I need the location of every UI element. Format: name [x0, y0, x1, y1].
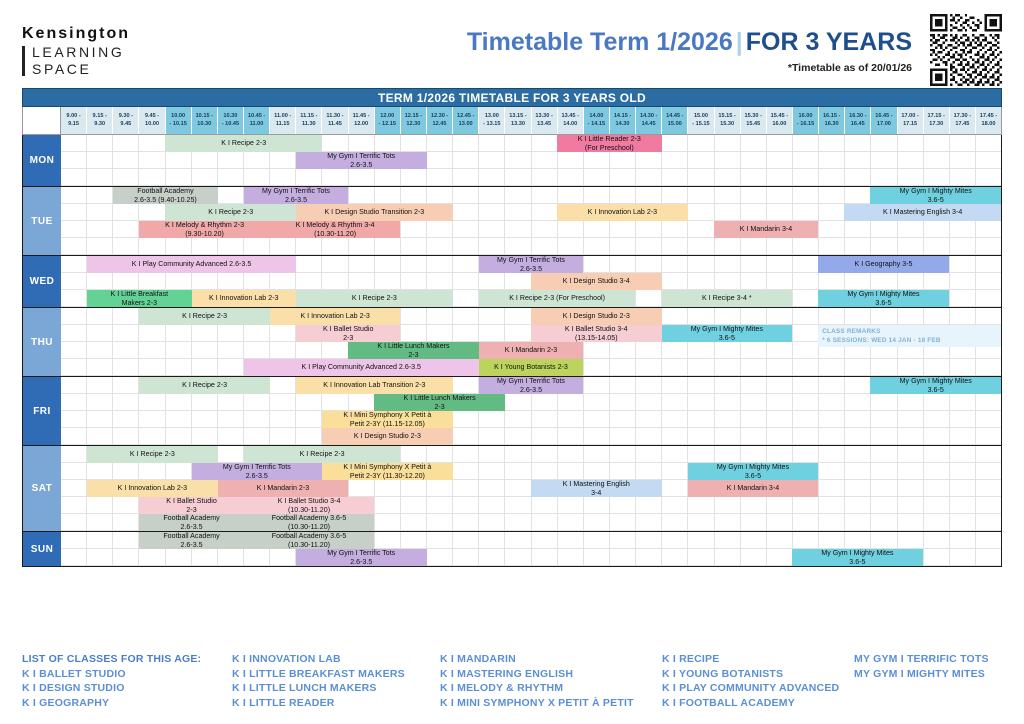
legend-column-2: K I INNOVATION LAB K I LITTLE BREAKFAST … [232, 652, 440, 710]
time-slot-end: 15.30 [720, 121, 734, 129]
time-slot-header: 16.00- 16.15 [793, 107, 819, 134]
class-block[interactable]: My Gym I Terrific Tots 2.6-3.5 [296, 152, 427, 169]
class-block[interactable]: K I Design Studio 2-3 [322, 428, 453, 445]
legend-column-1: LIST OF CLASSES FOR THIS AGE: K I BALLET… [22, 652, 232, 710]
timetable-row-thu: THUK I Recipe 2-3K I Innovation Lab 2-3K… [23, 307, 1001, 376]
time-slot-start: 13.45 - [562, 113, 579, 121]
lane [61, 152, 1001, 169]
class-block[interactable]: K I Ballet Studio 2-3 [139, 497, 243, 514]
class-block[interactable]: My Gym I Terrific Tots 2.6-3.5 [244, 187, 348, 204]
class-block[interactable]: K I Little Lunch Makers 2-3 [374, 394, 505, 411]
class-block[interactable]: Football Academy 3.6-5 (10.30-11.20) [244, 532, 375, 549]
time-slot-end: 16.00 [772, 121, 786, 129]
class-block[interactable]: K I Design Studio 3-4 [531, 273, 662, 290]
class-remarks: CLASS REMARKS * 6 SESSIONS: WED 14 JAN -… [818, 325, 1001, 347]
time-slot-start: 13.30 - [535, 113, 552, 121]
legend-item: K I DESIGN STUDIO [22, 681, 232, 696]
class-block[interactable]: K I Play Community Advanced 2.6-3.5 [87, 256, 296, 273]
time-slot-header: 9.00 -9.15 [61, 107, 87, 134]
time-slot-header: 15.45 -16.00 [767, 107, 793, 134]
time-slot-header: 12.45 -13.00 [453, 107, 479, 134]
time-slot-header: 14.45 -15.00 [662, 107, 688, 134]
time-slot-start: 12.45 - [457, 113, 474, 121]
time-slot-header: 10.45 -11.00 [244, 107, 270, 134]
class-block[interactable]: K I Mandarin 3-4 [714, 221, 818, 238]
title-term: Timetable Term 1/2026 [467, 28, 733, 56]
day-lanes: K I Recipe 2-3My Gym I Terrific Tots 2.6… [61, 135, 1001, 186]
class-block[interactable]: My Gym I Terrific Tots 2.6-3.5 [479, 256, 583, 273]
time-slot-header: 12.30 -12.45 [427, 107, 453, 134]
time-slot-start: 14.00 [589, 113, 603, 121]
brand-line-2: LEARNING [32, 44, 130, 61]
class-block[interactable]: K I Play Community Advanced 2.6-3.5 [244, 359, 479, 376]
time-slot-start: 16.15 - [823, 113, 840, 121]
time-slot-start: 11.45 - [353, 113, 370, 121]
time-slot-end: - 10.15 [169, 121, 186, 129]
legend-item: MY GYM I TERRIFIC TOTS [854, 652, 989, 667]
time-slot-end: 16.30 [825, 121, 839, 129]
legend-item: K I FOOTBALL ACADEMY [662, 696, 854, 711]
time-slot-start: 9.45 - [145, 113, 159, 121]
time-slot-end: 13.45 [537, 121, 551, 129]
legend-item: K I INNOVATION LAB [232, 652, 440, 667]
time-slot-header: 15.00- 15.15 [688, 107, 714, 134]
legend-column-3: K I MANDARIN K I MASTERING ENGLISH K I M… [440, 652, 662, 710]
time-slot-end: - 16.15 [797, 121, 814, 129]
class-block[interactable]: My Gym I Mighty Mites 3.6-5 [870, 187, 1001, 204]
brand-line-1: Kensington [22, 24, 130, 43]
time-slot-header: 11.45 -12.00 [349, 107, 375, 134]
class-block[interactable]: K I Little Reader 2-3 (For Preschool) [557, 135, 661, 152]
class-block[interactable]: K I Little Breakfast Makers 2-3 [87, 290, 191, 307]
legend-item: K I RECIPE [662, 652, 854, 667]
legend-column-4: K I RECIPE K I YOUNG BOTANISTS K I PLAY … [662, 652, 854, 710]
title-age-group: FOR 3 YEARS [746, 28, 912, 56]
time-slot-end: 17.45 [955, 121, 969, 129]
class-block[interactable]: K I Recipe 2-3 [165, 204, 296, 221]
time-slot-end: - 15.15 [692, 121, 709, 129]
day-label-sat: SAT [23, 446, 61, 531]
class-legend: LIST OF CLASSES FOR THIS AGE: K I BALLET… [22, 652, 1012, 710]
time-slot-end: 14.45 [642, 121, 656, 129]
brand-logo: Kensington LEARNING SPACE [22, 24, 130, 78]
legend-item: K I MASTERING ENGLISH [440, 667, 662, 682]
lane [61, 238, 1001, 255]
time-slot-header: 17.30 -17.45 [950, 107, 976, 134]
legend-item: K I LITTLE READER [232, 696, 440, 711]
time-slot-start: 10.45 - [248, 113, 265, 121]
time-slot-cells: 9.00 -9.159.15 -9.309.30 -9.459.45 -10.0… [61, 107, 1001, 134]
time-slot-header: 10.15 -10.30 [192, 107, 218, 134]
legend-column-5: MY GYM I TERRIFIC TOTS MY GYM I MIGHTY M… [854, 652, 989, 710]
class-block[interactable]: Football Academy 3.6-5 (10.30-11.20) [244, 514, 375, 531]
timetable-row-tue: TUEFootball Academy 2.6-3.5 (9.40-10.25)… [23, 186, 1001, 255]
timetable-row-mon: MONK I Recipe 2-3My Gym I Terrific Tots … [23, 135, 1001, 186]
class-block[interactable]: Football Academy 2.6-3.5 (9.40-10.25) [113, 187, 217, 204]
legend-item: K I MINI SYMPHONY X PETIT À PETIT [440, 696, 662, 711]
class-block[interactable]: K I Recipe 2-3 [244, 446, 401, 463]
class-block[interactable]: K I Innovation Lab 2-3 [192, 290, 296, 307]
time-slot-start: 12.15 - [405, 113, 422, 121]
time-slot-end: 11.30 [302, 121, 316, 129]
time-slot-start: 12.30 - [431, 113, 448, 121]
time-slot-end: 9.45 [120, 121, 131, 129]
time-slot-end: 11.15 [276, 121, 290, 129]
time-slot-header: 17.00 -17.15 [898, 107, 924, 134]
time-slot-end: 9.30 [94, 121, 105, 129]
qr-code-icon[interactable] [930, 14, 1002, 86]
time-slot-header: 11.30 -11.45 [322, 107, 348, 134]
time-slot-header: 11.15 -11.30 [296, 107, 322, 134]
day-lanes: Football Academy 2.6-3.5 (9.40-10.25)My … [61, 187, 1001, 255]
time-slot-header: 16.15 -16.30 [819, 107, 845, 134]
class-block[interactable]: K I Mandarin 2-3 [218, 480, 349, 497]
class-block[interactable]: K I Recipe 2-3 [139, 308, 270, 325]
time-slot-end: 12.00 [354, 121, 368, 129]
time-slot-start: 11.00 - [274, 113, 291, 121]
time-slot-start: 9.15 - [93, 113, 107, 121]
day-lanes: K I Recipe 2-3K I Innovation Lab Transit… [61, 377, 1001, 445]
class-block[interactable]: K I Little Lunch Makers 2-3 [348, 342, 479, 359]
class-block[interactable]: K I Design Studio 2-3 [531, 308, 662, 325]
lane [61, 169, 1001, 186]
title-separator: | [733, 28, 746, 56]
time-slot-end: - 10.45 [222, 121, 239, 129]
time-slot-header: 15.15 -15.30 [715, 107, 741, 134]
time-slot-end: - 13.15 [483, 121, 500, 129]
brand-lockup: LEARNING SPACE [22, 44, 130, 78]
time-slot-start: 16.00 [799, 113, 813, 121]
legend-item: MY GYM I MIGHTY MITES [854, 667, 989, 682]
time-slot-start: 10.00 [171, 113, 185, 121]
time-slot-end: 13.00 [459, 121, 473, 129]
class-block[interactable]: My Gym I Mighty Mites 3.6-5 [792, 549, 923, 566]
class-block[interactable]: Football Academy 2.6-3.5 [139, 532, 243, 549]
class-block[interactable]: My Gym I Terrific Tots 2.6-3.5 [192, 463, 323, 480]
time-slot-end: 14.30 [616, 121, 630, 129]
time-slot-start: 15.15 - [718, 113, 735, 121]
legend-item: K I LITTLE LUNCH MAKERS [232, 681, 440, 696]
time-slot-start: 15.45 - [771, 113, 788, 121]
time-slot-header: 13.00- 13.15 [479, 107, 505, 134]
page-header: Kensington LEARNING SPACE Timetable Term… [0, 0, 1024, 88]
time-slot-header: 16.30 -16.45 [845, 107, 871, 134]
class-block[interactable]: K I Design Studio Transition 2-3 [296, 204, 453, 221]
time-slot-end: 11.00 [250, 121, 264, 129]
time-slot-header: 9.45 -10.00 [139, 107, 165, 134]
class-block[interactable]: K I Mandarin 3-4 [688, 480, 819, 497]
lane [61, 428, 1001, 445]
time-header-spacer [23, 107, 61, 134]
time-slot-header: 14.15 -14.30 [610, 107, 636, 134]
legend-item: K I MELODY & RHYTHM [440, 681, 662, 696]
time-slot-end: 15.45 [746, 121, 760, 129]
day-label-thu: THU [23, 308, 61, 376]
class-block[interactable]: My Gym I Mighty Mites 3.6-5 [688, 463, 819, 480]
time-slot-start: 17.45 - [980, 113, 997, 121]
time-slot-start: 15.30 - [745, 113, 762, 121]
timetable-row-wed: WEDK I Play Community Advanced 2.6-3.5My… [23, 255, 1001, 307]
class-block[interactable]: K I Recipe 3-4 * [662, 290, 793, 307]
time-slot-start: 13.15 - [509, 113, 526, 121]
class-block[interactable]: K I Innovation Lab 2-3 [87, 480, 218, 497]
time-slot-end: 12.45 [433, 121, 447, 129]
legend-item: K I YOUNG BOTANISTS [662, 667, 854, 682]
legend-item: K I GEOGRAPHY [22, 696, 232, 711]
timetable: TERM 1/2026 TIMETABLE FOR 3 YEARS OLD 9.… [22, 88, 1002, 567]
class-block[interactable]: My Gym I Mighty Mites 3.6-5 [870, 377, 1001, 394]
time-slot-start: 12.00 [380, 113, 394, 121]
class-block[interactable]: K I Recipe 2-3 [87, 446, 218, 463]
time-slot-start: 17.00 - [901, 113, 918, 121]
class-block[interactable]: K I Mastering English 3-4 [844, 204, 1001, 221]
class-block[interactable]: K I Recipe 2-3 (For Preschool) [479, 290, 636, 307]
time-slot-end: 15.00 [668, 121, 682, 129]
day-label-fri: FRI [23, 377, 61, 445]
class-block[interactable]: My Gym I Terrific Tots 2.6-3.5 [479, 377, 583, 394]
class-block[interactable]: K I Young Botanists 2-3 [479, 359, 583, 376]
class-block[interactable]: K I Innovation Lab Transition 2-3 [296, 377, 453, 394]
time-slot-start: 9.30 - [119, 113, 133, 121]
day-lanes: K I Play Community Advanced 2.6-3.5My Gy… [61, 256, 1001, 307]
class-block[interactable]: K I Recipe 2-3 [165, 135, 322, 152]
time-slot-header: 9.30 -9.45 [113, 107, 139, 134]
class-block[interactable]: K I Geography 3-5 [818, 256, 949, 273]
time-slot-start: 15.00 [694, 113, 708, 121]
day-label-wed: WED [23, 256, 61, 307]
time-slot-start: 16.45 - [875, 113, 892, 121]
timetable-grid: MONK I Recipe 2-3My Gym I Terrific Tots … [22, 135, 1002, 567]
day-lanes: K I Recipe 2-3K I Innovation Lab 2-3K I … [61, 308, 1001, 376]
time-slot-end: - 12.15 [379, 121, 396, 129]
time-slot-end: 9.15 [68, 121, 79, 129]
class-block[interactable]: K I Melody & Rhythm 2-3 (9.30-10.20) [139, 221, 270, 238]
time-slot-start: 10.15 - [196, 113, 213, 121]
time-slot-end: - 14.15 [588, 121, 605, 129]
time-slot-header: 13.15 -13.30 [505, 107, 531, 134]
lane [61, 411, 1001, 428]
time-slot-end: 13.30 [511, 121, 525, 129]
day-label-tue: TUE [23, 187, 61, 255]
legend-item: K I LITTLE BREAKFAST MAKERS [232, 667, 440, 682]
time-slot-header: 14.30 -14.45 [636, 107, 662, 134]
lane [61, 394, 1001, 411]
time-slot-start: 16.30 - [849, 113, 866, 121]
class-block[interactable]: K I Melody & Rhythm 3-4 (10.30-11.20) [270, 221, 401, 238]
time-slot-start: 17.30 - [954, 113, 971, 121]
title-asof-note: *Timetable as of 20/01/26 [467, 62, 912, 74]
class-block[interactable]: K I Ballet Studio 3-4 (10.30-11.20) [244, 497, 375, 514]
class-block[interactable]: K I Mini Symphony X Petit à Petit 2-3Y (… [322, 411, 453, 428]
time-slot-start: 9.00 - [66, 113, 80, 121]
class-block[interactable]: My Gym I Mighty Mites 3.6-5 [818, 290, 949, 307]
time-slot-end: 17.30 [929, 121, 943, 129]
time-slot-start: 14.15 - [614, 113, 631, 121]
time-slot-start: 10.30 [223, 113, 237, 121]
time-slot-header: 10.30- 10.45 [218, 107, 244, 134]
time-slot-end: 16.45 [851, 121, 865, 129]
class-block[interactable]: K I Innovation Lab 2-3 [557, 204, 688, 221]
time-slot-header: 15.30 -15.45 [741, 107, 767, 134]
time-slot-end: 10.30 [197, 121, 211, 129]
time-slot-start: 11.15 - [300, 113, 317, 121]
time-slot-header: 13.45 -14.00 [558, 107, 584, 134]
timetable-caption: TERM 1/2026 TIMETABLE FOR 3 YEARS OLD [22, 88, 1002, 107]
day-lanes: Football Academy 2.6-3.5Football Academy… [61, 532, 1001, 566]
time-slot-header: 16.45 -17.00 [871, 107, 897, 134]
time-slot-start: 14.30 - [640, 113, 657, 121]
timetable-row-sat: SATK I Recipe 2-3K I Recipe 2-3My Gym I … [23, 445, 1001, 531]
class-block[interactable]: K I Recipe 2-3 [139, 377, 270, 394]
time-slot-start: 13.00 [485, 113, 499, 121]
brand-line-3: SPACE [32, 61, 130, 78]
time-slot-header: 9.15 -9.30 [87, 107, 113, 134]
legend-item: K I MANDARIN [440, 652, 662, 667]
timetable-row-sun: SUNFootball Academy 2.6-3.5Football Acad… [23, 531, 1001, 566]
time-slot-end: 18.00 [981, 121, 995, 129]
time-slot-header: 17.45 -18.00 [976, 107, 1001, 134]
time-slot-start: 11.30 - [326, 113, 343, 121]
time-slot-header: 14.00- 14.15 [584, 107, 610, 134]
time-slot-end: 10.00 [145, 121, 159, 129]
class-block[interactable]: K I Mandarin 2-3 [479, 342, 583, 359]
class-block[interactable]: K I Innovation Lab 2-3 [270, 308, 401, 325]
legend-item: K I BALLET STUDIO [22, 667, 232, 682]
page-title: Timetable Term 1/2026|FOR 3 YEARS *Timet… [467, 28, 912, 74]
time-header-row: 9.00 -9.159.15 -9.309.30 -9.459.45 -10.0… [22, 107, 1002, 135]
time-slot-header: 12.15 -12.30 [401, 107, 427, 134]
time-slot-end: 17.00 [877, 121, 891, 129]
time-slot-end: 12.30 [406, 121, 420, 129]
day-label-mon: MON [23, 135, 61, 186]
class-block[interactable]: K I Recipe 2-3 [296, 290, 453, 307]
time-slot-start: 17.15 - [928, 113, 945, 121]
day-lanes: K I Recipe 2-3K I Recipe 2-3My Gym I Ter… [61, 446, 1001, 531]
class-block[interactable]: My Gym I Terrific Tots 2.6-3.5 [296, 549, 427, 566]
time-slot-header: 11.00 -11.15 [270, 107, 296, 134]
timetable-row-fri: FRIK I Recipe 2-3K I Innovation Lab Tran… [23, 376, 1001, 445]
time-slot-header: 13.30 -13.45 [532, 107, 558, 134]
time-slot-end: 17.15 [903, 121, 917, 129]
class-block[interactable]: K I Ballet Studio 3-4 (13.15-14.05) [531, 325, 662, 342]
class-block[interactable]: K I Mastering English 3-4 [531, 480, 662, 497]
class-block[interactable]: K I Mini Symphony X Petit à Petit 2-3Y (… [322, 463, 453, 480]
legend-heading: LIST OF CLASSES FOR THIS AGE: [22, 652, 232, 667]
time-slot-header: 10.00- 10.15 [166, 107, 192, 134]
time-slot-end: 14.00 [563, 121, 577, 129]
class-block[interactable]: K I Ballet Studio 2-3 [296, 325, 400, 342]
time-slot-end: 11.45 [328, 121, 342, 129]
class-block[interactable]: Football Academy 2.6-3.5 [139, 514, 243, 531]
legend-item: K I PLAY COMMUNITY ADVANCED [662, 681, 854, 696]
day-label-sun: SUN [23, 532, 61, 566]
class-block[interactable]: My Gym I Mighty Mites 3.6-5 [662, 325, 793, 342]
time-slot-header: 17.15 -17.30 [924, 107, 950, 134]
time-slot-header: 12.00- 12.15 [375, 107, 401, 134]
time-slot-start: 14.45 - [666, 113, 683, 121]
